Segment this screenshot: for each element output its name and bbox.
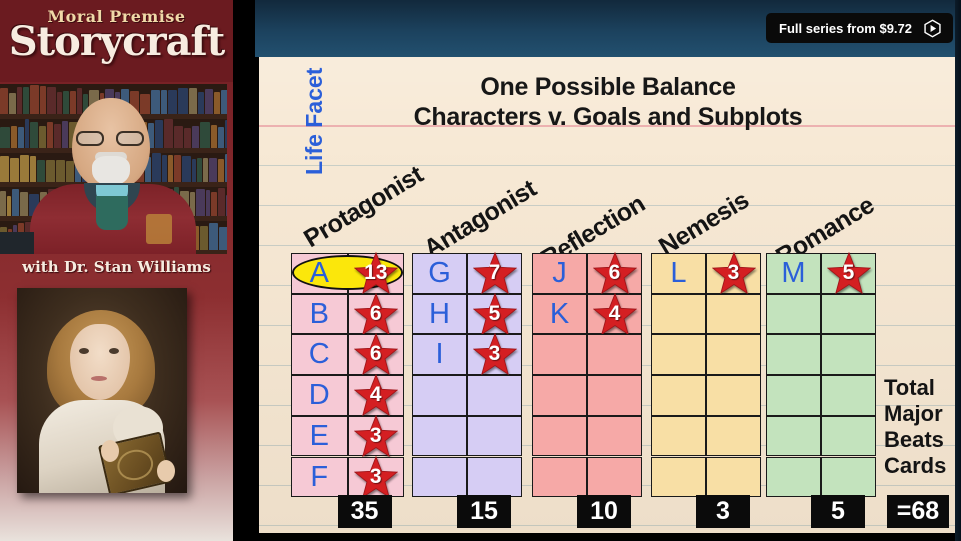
book-spine — [168, 155, 173, 182]
book-spine — [46, 160, 55, 182]
book-spine — [151, 90, 160, 114]
beat-count: 6 — [593, 252, 637, 294]
book-spine — [66, 161, 74, 182]
table-cell-letter[interactable] — [412, 416, 467, 457]
painting-book-emblem — [114, 446, 156, 483]
book-spine — [225, 120, 227, 148]
book-spine — [30, 122, 38, 148]
column-total-protagonist: 35 — [338, 495, 392, 528]
life-facet-letter: B — [291, 300, 348, 329]
life-facet-letter: A — [291, 259, 348, 288]
book-spine — [198, 92, 204, 114]
brand-header: Moral Premise Storycraft — [0, 0, 233, 82]
book-spine — [205, 89, 213, 114]
life-facet-letter: C — [291, 340, 348, 369]
book-spine — [209, 223, 218, 250]
life-facet-letter: H — [412, 300, 467, 329]
life-facet-letter: F — [291, 463, 348, 492]
book-spine — [218, 188, 225, 216]
book-spine — [56, 160, 65, 182]
book-spine — [162, 155, 167, 182]
beat-star-icon: 4 — [593, 293, 637, 335]
life-facet-letter: G — [412, 259, 467, 288]
table-cell-letter[interactable] — [651, 416, 706, 457]
table-cell-beats[interactable] — [706, 416, 761, 457]
book-spine — [18, 127, 24, 148]
table-cell-letter[interactable] — [412, 375, 467, 416]
table-cell-beats[interactable] — [587, 416, 642, 457]
book-spine — [226, 195, 227, 216]
table-cell-letter[interactable] — [532, 334, 587, 375]
life-facet-letter: D — [291, 381, 348, 410]
book-spine — [218, 127, 224, 148]
table-cell-letter[interactable] — [766, 375, 821, 416]
play-hexagon-icon — [923, 19, 942, 38]
beat-count: 3 — [473, 333, 517, 375]
book-spine — [174, 126, 183, 148]
row-axis-label: Life Facet — [301, 57, 328, 175]
book-spine — [62, 121, 68, 148]
grand-total-badge: =68 — [887, 495, 949, 528]
book-spine — [140, 94, 150, 114]
table-cell-beats[interactable] — [587, 375, 642, 416]
presenter-panel: Moral Premise Storycraft with Dr. Stan W… — [0, 0, 233, 541]
ruled-line — [259, 165, 957, 166]
book-spine — [182, 156, 191, 182]
table-cell-letter[interactable] — [532, 375, 587, 416]
book-spine — [7, 196, 11, 216]
book-spine — [11, 126, 17, 148]
table-cell-letter[interactable] — [766, 294, 821, 335]
painting-hand-right — [157, 460, 175, 482]
total-note-line: Cards — [884, 453, 957, 479]
presenter-byline: with Dr. Stan Williams — [0, 258, 233, 276]
beat-count: 13 — [354, 252, 398, 294]
slide-title: One Possible Balance Characters v. Goals… — [259, 72, 957, 132]
full-series-badge-label: Full series from $9.72 — [779, 21, 912, 36]
slide-paper: One Possible Balance Characters v. Goals… — [259, 57, 957, 533]
table-cell-beats[interactable] — [821, 375, 876, 416]
book-spine — [20, 155, 29, 182]
beat-count: 7 — [473, 252, 517, 294]
table-cell-beats[interactable] — [706, 334, 761, 375]
table-cell-beats[interactable] — [821, 294, 876, 335]
beat-star-icon: 3 — [712, 252, 756, 294]
book-spine — [192, 126, 199, 148]
book-spine — [219, 227, 227, 250]
book-spine — [189, 88, 197, 114]
painting-image — [17, 288, 187, 493]
book-spine — [37, 160, 45, 182]
book-spine — [200, 122, 210, 148]
table-cell-beats[interactable] — [587, 457, 642, 498]
book-spine — [211, 192, 217, 216]
book-spine — [174, 155, 181, 182]
column-total-nemesis: 3 — [696, 495, 750, 528]
book-spine — [40, 86, 46, 114]
book-spine — [184, 128, 191, 148]
brand-title: Storycraft — [0, 22, 233, 62]
book-spine — [200, 226, 208, 250]
beat-count: 6 — [354, 293, 398, 335]
beat-star-icon: 6 — [354, 333, 398, 375]
presenter-polo — [96, 196, 128, 230]
beat-star-icon: 4 — [354, 374, 398, 416]
table-cell-beats[interactable] — [467, 375, 522, 416]
table-cell-letter[interactable] — [532, 416, 587, 457]
book-spine — [0, 191, 6, 216]
desk-monitor — [0, 232, 34, 254]
book-spine — [211, 125, 217, 148]
book-spine — [225, 154, 227, 182]
table-cell-beats[interactable] — [467, 457, 522, 498]
book-spine — [0, 127, 10, 148]
slide-right-edge — [955, 0, 961, 541]
book-spine — [161, 90, 167, 114]
book-spine — [47, 87, 56, 114]
slide-title-line-2: Characters v. Goals and Subplots — [259, 102, 957, 132]
book-spine — [57, 92, 62, 114]
table-cell-beats[interactable] — [706, 375, 761, 416]
book-spine — [30, 85, 39, 114]
table-cell-letter[interactable] — [651, 457, 706, 498]
book-spine — [20, 192, 28, 216]
book-spine — [218, 159, 224, 182]
book-spine — [206, 190, 210, 216]
book-spine — [17, 87, 22, 114]
total-major-beats-note: TotalMajorBeatsCards — [884, 375, 957, 479]
book-spine — [221, 90, 227, 114]
painting-eye-left — [79, 348, 89, 354]
book-spine — [9, 93, 16, 114]
table-cell-letter[interactable] — [412, 457, 467, 498]
full-series-badge[interactable]: Full series from $9.72 — [766, 13, 953, 43]
table-cell-beats[interactable] — [706, 457, 761, 498]
beat-count: 5 — [827, 252, 871, 294]
book-spine — [164, 119, 173, 148]
column-header-antagonist: Antagonist — [419, 174, 542, 264]
table-cell-letter[interactable] — [651, 375, 706, 416]
beat-star-icon: 3 — [473, 333, 517, 375]
book-spine — [214, 92, 220, 114]
beat-count: 5 — [473, 293, 517, 335]
table-cell-letter[interactable] — [766, 457, 821, 498]
shirt-logo-patch — [146, 214, 172, 244]
life-facet-letter: J — [532, 259, 587, 288]
book-spine — [192, 159, 196, 182]
book-spine — [197, 158, 202, 182]
table-cell-letter[interactable] — [651, 294, 706, 335]
column-total-romance: 5 — [811, 495, 865, 528]
table-cell-letter[interactable] — [532, 457, 587, 498]
table-cell-beats[interactable] — [467, 416, 522, 457]
book-spine — [178, 88, 188, 114]
table-cell-beats[interactable] — [706, 294, 761, 335]
book-spine — [12, 189, 19, 216]
ruled-line — [259, 245, 957, 246]
book-spine — [30, 156, 36, 182]
table-cell-letter[interactable] — [766, 334, 821, 375]
book-spine — [10, 158, 19, 182]
life-facet-letter: E — [291, 422, 348, 451]
book-spine — [209, 158, 217, 182]
column-header-nemesis: Nemesis — [654, 186, 754, 262]
screenshot-root: Moral Premise Storycraft with Dr. Stan W… — [0, 0, 961, 541]
table-cell-letter[interactable] — [766, 416, 821, 457]
presenter-beard — [92, 156, 130, 186]
beat-count: 4 — [354, 374, 398, 416]
table-cell-beats[interactable] — [587, 334, 642, 375]
beat-count: 6 — [354, 333, 398, 375]
beat-star-icon: 6 — [593, 252, 637, 294]
beat-count: 3 — [712, 252, 756, 294]
book-spine — [63, 91, 69, 114]
book-spine — [196, 189, 205, 216]
life-facet-letter: L — [651, 259, 706, 288]
beat-star-icon: 7 — [473, 252, 517, 294]
life-facet-letter: K — [532, 300, 587, 329]
book-spine — [39, 126, 46, 148]
book-spine — [203, 158, 208, 182]
slide-title-line-1: One Possible Balance — [259, 72, 957, 102]
book-spine — [0, 88, 8, 114]
painting-hand-left — [101, 440, 119, 462]
book-spine — [77, 88, 82, 114]
book-spine — [70, 91, 76, 114]
total-note-line: Total — [884, 375, 957, 401]
presenter-photo — [0, 84, 227, 254]
painting-eye-right — [109, 348, 119, 354]
life-facet-letter: M — [766, 259, 821, 288]
book-spine — [152, 153, 161, 182]
total-note-line: Beats — [884, 427, 957, 453]
table-cell-beats[interactable] — [821, 457, 876, 498]
beat-star-icon: 6 — [354, 293, 398, 335]
total-note-line: Major — [884, 401, 957, 427]
book-spine — [0, 156, 9, 182]
table-cell-beats[interactable] — [821, 334, 876, 375]
book-spine — [25, 119, 29, 148]
beat-star-icon: 13 — [354, 252, 398, 294]
beat-star-icon: 5 — [473, 293, 517, 335]
beat-star-icon: 5 — [827, 252, 871, 294]
book-spine — [23, 87, 29, 114]
painting-mouth — [91, 376, 107, 381]
book-spine — [168, 90, 177, 114]
table-cell-beats[interactable] — [821, 416, 876, 457]
beat-count: 3 — [354, 456, 398, 498]
beat-count: 4 — [593, 293, 637, 335]
book-spine — [47, 122, 53, 148]
table-cell-letter[interactable] — [651, 334, 706, 375]
glasses-icon — [76, 131, 146, 147]
book-spine — [155, 120, 163, 148]
slide-area: One Possible Balance Characters v. Goals… — [255, 0, 961, 541]
book-spine — [54, 124, 61, 148]
beat-star-icon: 3 — [354, 415, 398, 457]
column-total-antagonist: 15 — [457, 495, 511, 528]
column-total-reflection: 10 — [577, 495, 631, 528]
beat-count: 3 — [354, 415, 398, 457]
life-facet-letter: I — [412, 340, 467, 369]
beat-star-icon: 3 — [354, 456, 398, 498]
